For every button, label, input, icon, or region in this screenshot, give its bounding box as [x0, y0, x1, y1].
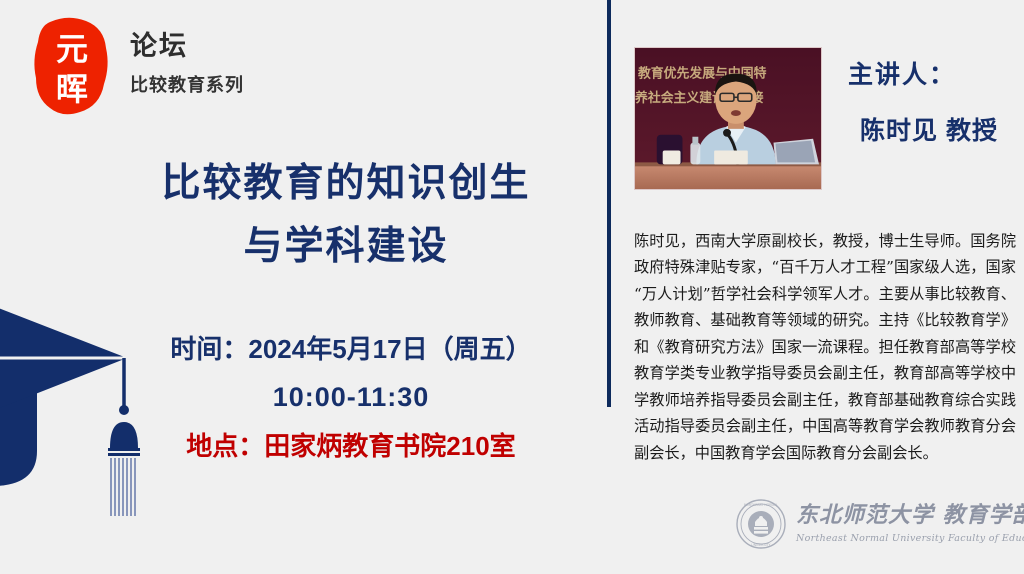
poster-header: 元 晖 论坛 比较教育系列	[28, 14, 244, 118]
brand-name-cn: 东北师范大学 教育学部	[796, 504, 1024, 526]
event-time-range: 10:00-11:30	[96, 384, 606, 411]
header-text-group: 论坛 比较教育系列	[130, 14, 244, 95]
seal-stamp-shape: 元 晖	[28, 14, 116, 118]
speaker-biography: 陈时见，西南大学原副校长，教授，博士生导师。国务院政府特殊津贴专家，“百千万人才…	[634, 228, 1016, 466]
seal-bottom-char: 晖	[56, 70, 88, 108]
speaker-name: 陈时见 教授	[860, 118, 998, 146]
column-divider	[607, 0, 611, 407]
speaker-photo-image: 教育优先发展与中国特 养社会主义建设者与接	[635, 48, 821, 189]
university-seal-icon: NORTHEAST NORMAL UNIVERSITY	[735, 498, 787, 550]
yuanhui-seal-icon: 元 晖	[28, 14, 116, 118]
speaker-label: 主讲人：	[848, 62, 998, 90]
speaker-info-block: 主讲人： 陈时见 教授	[848, 62, 998, 145]
main-title: 比较教育的知识创生 与学科建设	[96, 152, 596, 278]
brand-name-en: Northeast Normal University Faculty of E…	[796, 533, 1024, 544]
event-location: 地点：田家炳教育书院210室	[96, 433, 606, 459]
event-date: 时间：2024年5月17日（周五）	[96, 336, 606, 362]
speaker-photo: 教育优先发展与中国特 养社会主义建设者与接	[634, 47, 822, 190]
poster-canvas: 元 晖 论坛 比较教育系列 比较教育的知识创生 与学科建设 时间：2024年5月…	[0, 0, 1024, 574]
university-brand: NORTHEAST NORMAL UNIVERSITY 东北师范大学 教育学部 …	[735, 498, 1024, 550]
main-title-line-2: 与学科建设	[96, 215, 596, 278]
event-info-block: 时间：2024年5月17日（周五） 10:00-11:30 地点：田家炳教育书院…	[96, 336, 606, 459]
svg-text:UNIVERSITY: UNIVERSITY	[751, 543, 771, 547]
svg-text:NORTHEAST NORMAL: NORTHEAST NORMAL	[744, 503, 778, 507]
forum-subtitle: 比较教育系列	[130, 76, 244, 96]
seal-top-char: 元	[56, 30, 88, 68]
forum-title: 论坛	[130, 32, 244, 62]
university-seal-shape: NORTHEAST NORMAL UNIVERSITY	[735, 498, 787, 550]
brand-text-group: 东北师范大学 教育学部 Northeast Normal University …	[796, 504, 1024, 544]
main-title-line-1: 比较教育的知识创生	[96, 152, 596, 215]
